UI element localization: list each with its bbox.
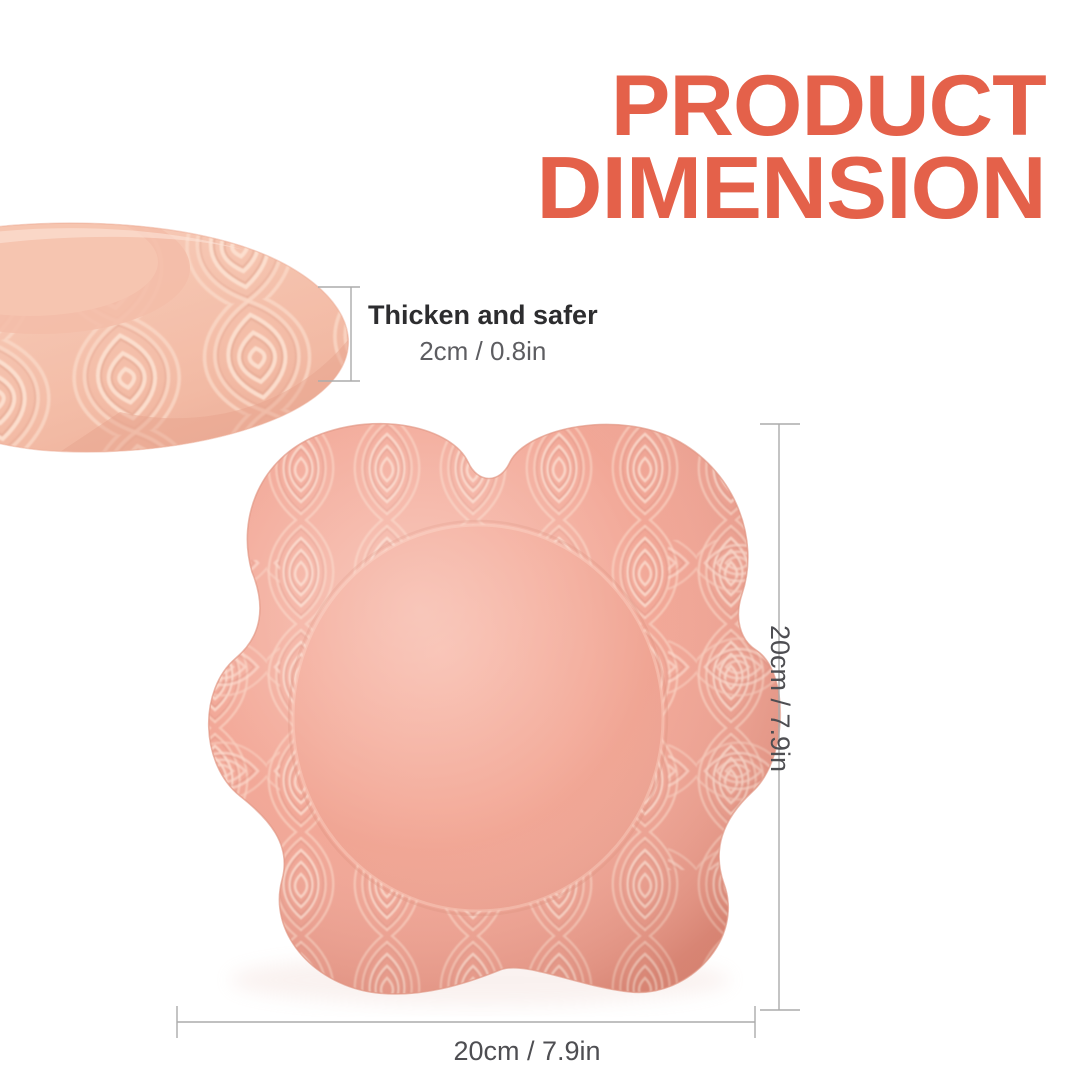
thickness-callout-value: 2cm / 0.8in (368, 337, 598, 367)
product-dimension-illustration (0, 0, 1080, 1080)
height-dimension-label: 20cm / 7.9in (764, 625, 795, 772)
thickness-callout: Thicken and safer 2cm / 0.8in (368, 300, 598, 367)
width-dimension-label: 20cm / 7.9in (0, 1036, 1080, 1067)
product-top-view (160, 400, 788, 1020)
width-dimension-label-text: 20cm / 7.9in (453, 1036, 600, 1066)
thickness-callout-heading: Thicken and safer (368, 300, 598, 331)
